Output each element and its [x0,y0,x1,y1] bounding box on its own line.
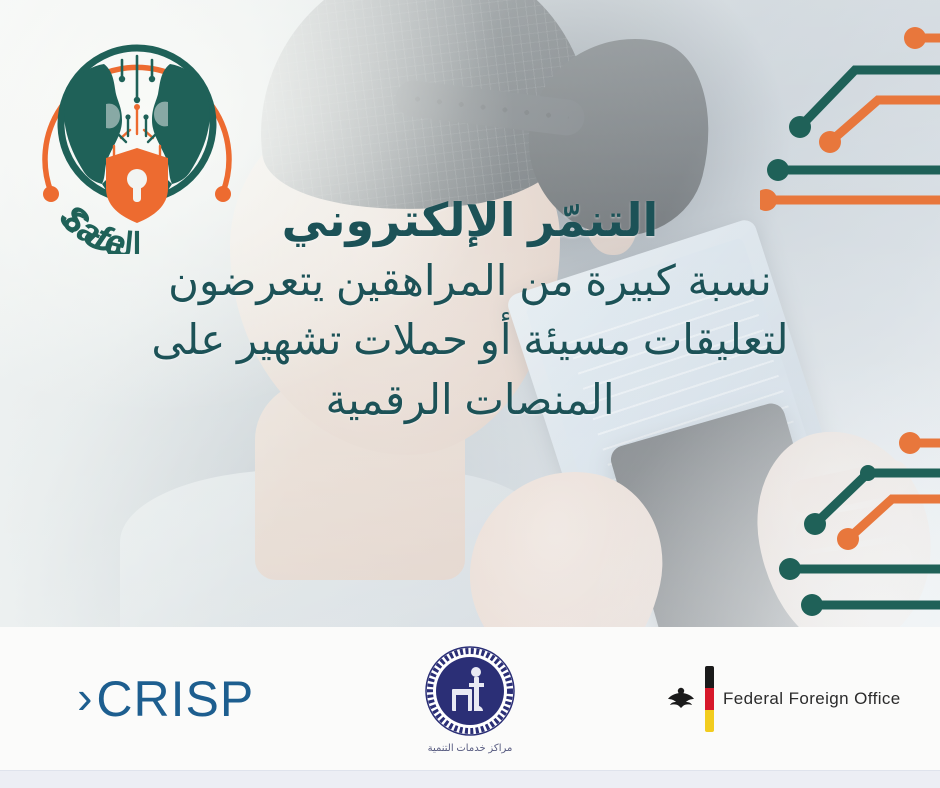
body-line: لتعليقات مسيئة أو حملات تشهير على [60,310,880,370]
development-services-centers-logo[interactable]: مراكز خدمات التنمية [422,643,518,754]
crisp-logo[interactable]: › CRISP [77,674,254,724]
body-line: نسبة كبيرة من المراهقين يتعرضون [60,251,880,311]
footer-bottom-strip [0,770,940,788]
footer-slot-crisp: › CRISP [0,674,313,724]
footer-logo-bar: › CRISP [0,627,940,770]
footer-slot-seal: مراكز خدمات التنمية [313,643,626,754]
circuit-node [899,432,921,454]
circuit-node [767,159,789,181]
circuit-node [801,594,823,616]
crisp-wordmark: CRISP [96,674,254,724]
body-line: المنصات الرقمية [60,370,880,430]
ffo-wordmark: Federal Foreign Office [723,689,901,709]
german-flag-bar-icon [705,666,714,732]
federal-foreign-office-logo[interactable]: Federal Foreign Office [666,666,901,732]
chevron-right-icon: › [77,674,92,720]
seal-emblem-icon [422,643,518,739]
circuit-node [860,465,876,481]
german-eagle-icon [666,684,696,714]
circuit-node [904,27,926,49]
message-block: التنمّر الإلكتروني نسبة كبيرة من المراهق… [60,196,880,430]
circuit-node [804,513,826,535]
hero-section: Safe النت ٤ التنمّر الإلكتروني نسبة كبير… [0,0,940,627]
circuit-node [789,116,811,138]
poster-canvas: Safe النت ٤ التنمّر الإلكتروني نسبة كبير… [0,0,940,788]
circuit-trace-bottom-right [760,429,940,619]
circuit-node [819,131,841,153]
circuit-node [779,558,801,580]
circuit-node [837,528,859,550]
seal-caption: مراكز خدمات التنمية [428,743,513,754]
footer-slot-ffo: Federal Foreign Office [627,666,940,732]
body-text: نسبة كبيرة من المراهقين يتعرضون لتعليقات… [60,251,880,430]
page-title: التنمّر الإلكتروني [60,196,880,245]
